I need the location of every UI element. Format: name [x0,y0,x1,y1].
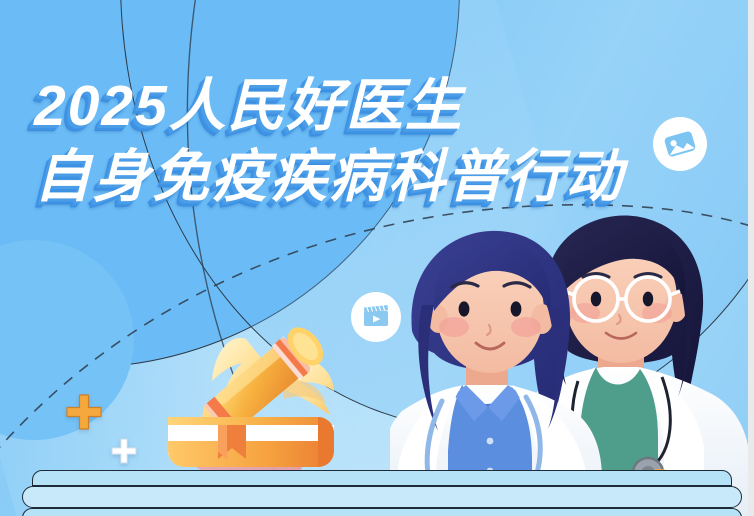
desk-bottom-band [22,508,742,516]
book-icon [168,417,334,467]
desk-top-edge [32,470,732,486]
image-icon [659,123,701,165]
poster-title: 2025人民好医生 自身免疫疾病科普行动 [34,78,624,206]
plus-icon [110,437,138,465]
campaign-poster: 2025人民好医生 自身免疫疾病科普行动 [0,0,754,516]
right-edge-strip [748,0,754,516]
desk-middle-band [22,486,742,508]
video-badge[interactable] [351,292,401,342]
video-clapperboard-icon [361,302,391,332]
plus-icon [64,392,104,432]
title-line-2: 自身免疫疾病科普行动 [34,149,624,206]
title-line-1: 2025人民好医生 [34,78,624,135]
desk-panel [32,470,732,516]
